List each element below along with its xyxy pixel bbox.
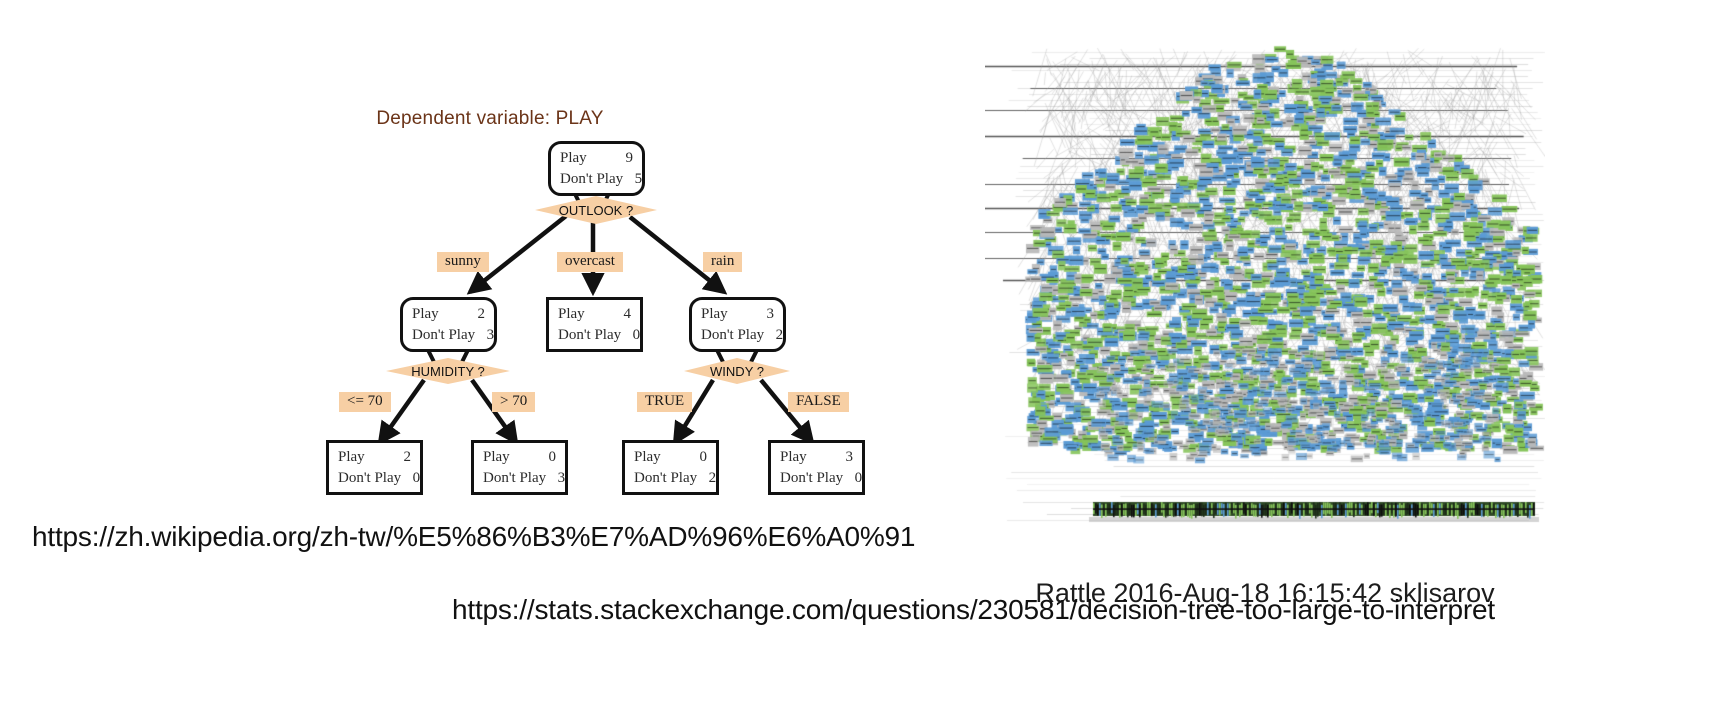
class-label-dont-play: Don't Play [701,325,774,346]
class-label-play: Play [634,447,671,468]
class-label-play: Play [483,447,520,468]
node-row-dont-play: Don't Play 2 [634,468,707,489]
class-label-dont-play: Don't Play [558,325,631,346]
node-count-play: 0 [698,447,707,468]
node-count-dont-play: 2 [707,468,716,489]
decision-tree-figure: Dependent variable: PLAY Play 9 Don't Pl… [0,0,980,520]
split-test-outlook[interactable]: OUTLOOK ? [535,196,657,224]
tree-node-rain[interactable]: Play 3 Don't Play 2 [689,297,786,352]
node-row-play: Play 3 [780,447,853,468]
node-count-play: 9 [624,148,633,169]
edge-label-gt-70: > 70 [492,392,535,412]
rattle-large-tree-figure [985,18,1545,538]
edge-label-sunny: sunny [437,252,489,272]
edge-label-true: TRUE [637,392,692,412]
class-label-dont-play: Don't Play [412,325,485,346]
tree-node-windy-true[interactable]: Play 0 Don't Play 2 [622,440,719,495]
class-label-play: Play [412,304,449,325]
tree-node-windy-false[interactable]: Play 3 Don't Play 0 [768,440,865,495]
node-count-dont-play: 5 [633,169,642,190]
edge-label-le-70: <= 70 [339,392,391,412]
split-label-humidity: HUMIDITY ? [411,364,484,379]
class-label-play: Play [558,304,595,325]
edge-label-rain: rain [703,252,742,272]
node-count-dont-play: 0 [853,468,862,489]
node-count-play: 3 [765,304,774,325]
edge-label-false: FALSE [788,392,849,412]
source-url-wikipedia[interactable]: https://zh.wikipedia.org/zh-tw/%E5%86%B3… [32,521,915,553]
edge-label-overcast: overcast [557,252,623,272]
class-label-play: Play [780,447,817,468]
node-row-dont-play: Don't Play 0 [558,325,631,346]
node-row-dont-play: Don't Play 5 [560,169,633,190]
node-row-play: Play 4 [558,304,631,325]
node-count-play: 0 [547,447,556,468]
node-row-play: Play 0 [634,447,707,468]
node-count-play: 2 [476,304,485,325]
class-label-dont-play: Don't Play [634,468,707,489]
node-row-play: Play 0 [483,447,556,468]
class-label-dont-play: Don't Play [560,169,633,190]
node-row-play: Play 2 [338,447,411,468]
class-label-dont-play: Don't Play [483,468,556,489]
node-count-play: 3 [844,447,853,468]
node-row-play: Play 9 [560,148,633,169]
node-row-play: Play 2 [412,304,485,325]
tree-node-overcast[interactable]: Play 4 Don't Play 0 [546,297,643,352]
class-label-play: Play [560,148,597,169]
node-row-dont-play: Don't Play 0 [780,468,853,489]
tree-node-humidity-gt70[interactable]: Play 0 Don't Play 3 [471,440,568,495]
node-count-dont-play: 3 [556,468,565,489]
class-label-play: Play [701,304,738,325]
node-count-play: 4 [622,304,631,325]
tree-node-root[interactable]: Play 9 Don't Play 5 [548,141,645,196]
node-row-dont-play: Don't Play 3 [483,468,556,489]
node-row-dont-play: Don't Play 0 [338,468,411,489]
node-count-dont-play: 0 [411,468,420,489]
split-label-outlook: OUTLOOK ? [559,203,633,218]
page-title: Dependent variable: PLAY [0,108,980,130]
split-label-windy: WINDY ? [710,364,764,379]
class-label-dont-play: Don't Play [338,468,411,489]
node-count-play: 2 [402,447,411,468]
split-test-humidity[interactable]: HUMIDITY ? [386,358,510,384]
class-label-play: Play [338,447,375,468]
split-test-windy[interactable]: WINDY ? [684,358,790,384]
tree-node-sunny[interactable]: Play 2 Don't Play 3 [400,297,497,352]
node-count-dont-play: 3 [485,325,494,346]
source-url-stackexchange[interactable]: https://stats.stackexchange.com/question… [452,594,1495,626]
tree-node-humidity-le70[interactable]: Play 2 Don't Play 0 [326,440,423,495]
node-row-dont-play: Don't Play 3 [412,325,485,346]
class-label-dont-play: Don't Play [780,468,853,489]
node-row-play: Play 3 [701,304,774,325]
node-count-dont-play: 2 [774,325,783,346]
rattle-tree-canvas [985,18,1545,538]
node-row-dont-play: Don't Play 2 [701,325,774,346]
node-count-dont-play: 0 [631,325,640,346]
